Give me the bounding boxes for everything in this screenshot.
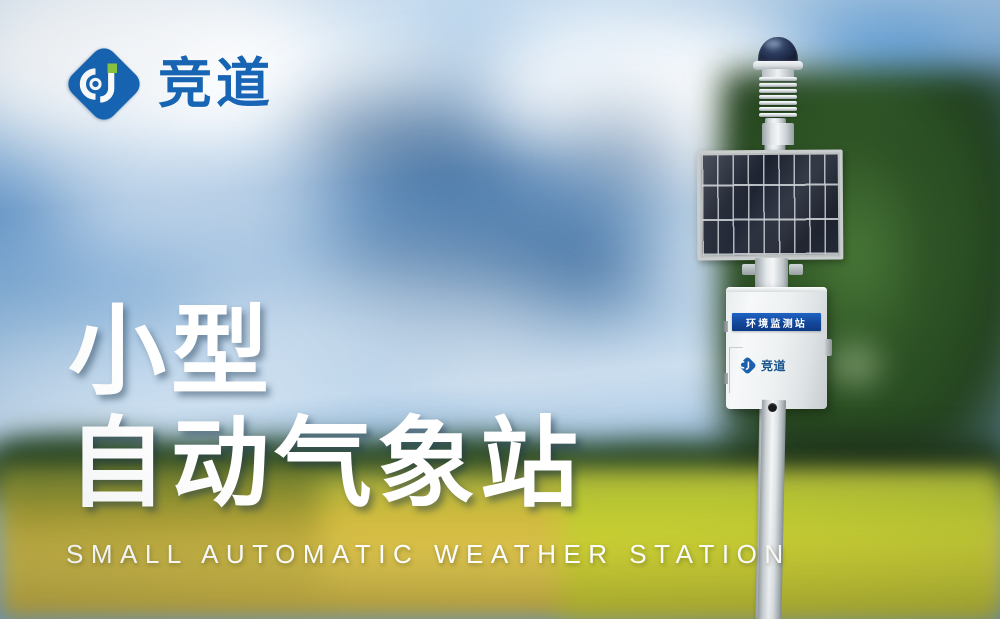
hero-subtitle: SMALL AUTOMATIC WEATHER STATION	[66, 539, 791, 570]
tree-light-gap	[815, 330, 895, 400]
logo-glyph-icon	[66, 46, 142, 122]
cloud-shape	[560, 120, 680, 190]
hero-headline: 小型 自动气象站	[68, 300, 583, 518]
jingdao-diamond-logo-icon	[66, 46, 142, 122]
brand-name-text: 竞道	[158, 57, 274, 111]
headline-line-2: 自动气象站	[68, 412, 583, 518]
product-hero-banner: 环境监测站 竞道	[0, 0, 1000, 619]
brand-logo[interactable]: 竞道	[66, 46, 274, 122]
headline-line-1: 小型	[68, 300, 583, 406]
cloud-shape	[40, 150, 340, 260]
